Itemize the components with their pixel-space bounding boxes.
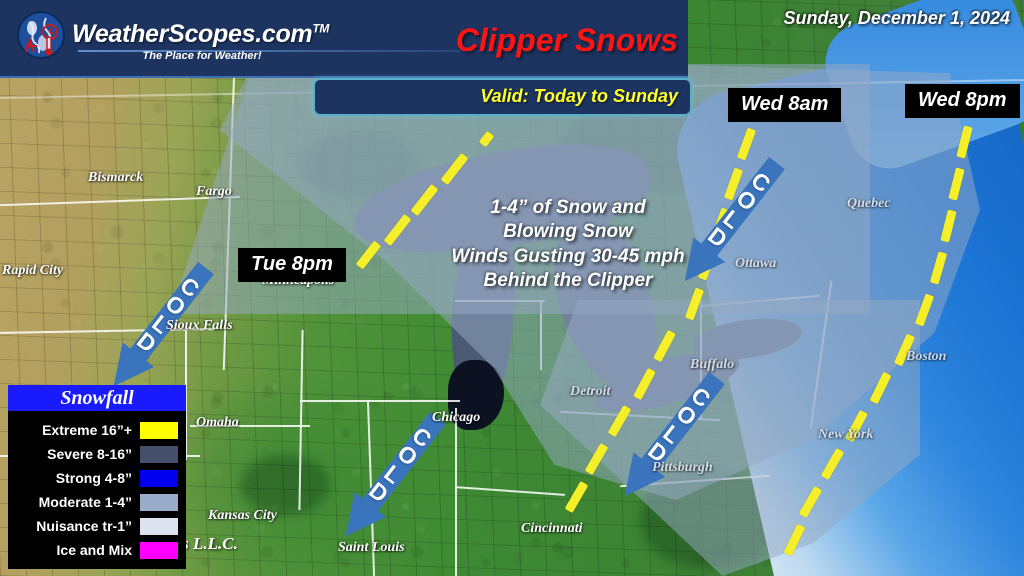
city-label: Bismarck [88, 170, 143, 186]
legend-label: Moderate 1-4” [39, 494, 132, 510]
legend-swatch [140, 446, 178, 463]
legend-swatch [140, 494, 178, 511]
state-boundary [540, 300, 542, 370]
forecast-callout: 1-4” of Snow and Blowing Snow Winds Gust… [418, 196, 718, 293]
state-boundary [455, 300, 545, 302]
legend-swatch [140, 518, 178, 535]
callout-line-4: Behind the Clipper [418, 269, 718, 293]
callout-line-2: Blowing Snow [418, 220, 718, 244]
brand-name: WeatherScopes.com [72, 20, 312, 48]
brand-title: WeatherScopes.comTM [72, 20, 329, 49]
date-stamp: Sunday, December 1, 2024 [784, 8, 1010, 29]
legend-label: Ice and Mix [57, 542, 132, 558]
city-label: Buffalo [690, 357, 734, 373]
city-label: Omaha [196, 415, 239, 431]
city-label: Pittsburgh [652, 460, 713, 476]
city-label: Boston [906, 349, 946, 365]
callout-line-3: Winds Gusting 30-45 mph [418, 245, 718, 269]
legend-title: Snowfall [8, 385, 186, 411]
legend-rows: Extreme 16”+Severe 8-16”Strong 4-8”Moder… [8, 411, 186, 562]
timestamp-label: Wed 8pm [905, 84, 1020, 118]
legend-label: Strong 4-8” [56, 470, 132, 486]
legend-swatch [140, 422, 178, 439]
legend-label: Nuisance tr-1” [36, 518, 132, 534]
legend-swatch [140, 470, 178, 487]
timestamp-label: Wed 8am [728, 88, 841, 122]
city-label: Ottawa [735, 256, 776, 272]
city-label: Saint Louis [338, 540, 405, 556]
state-boundary [300, 400, 460, 402]
brand-tagline: The Place for Weather! [92, 50, 312, 62]
city-label: Chicago [432, 410, 480, 426]
state-boundary [455, 408, 457, 576]
weather-map-graphic: COLDCOLDCOLDCOLD BismarckFargoRapid City… [0, 0, 1024, 576]
globe-weather-icon [16, 10, 66, 60]
city-label: Sioux Falls [166, 318, 233, 334]
legend-label: Extreme 16”+ [42, 422, 132, 438]
city-label: New York [818, 427, 873, 443]
legend-row: Ice and Mix [8, 538, 186, 562]
city-label: Detroit [570, 384, 610, 400]
city-label: Quebec [847, 196, 891, 212]
header-panel: WeatherScopes.comTM The Place for Weathe… [0, 0, 688, 78]
city-label: Fargo [196, 184, 232, 200]
legend-row: Moderate 1-4” [8, 490, 186, 514]
trademark-symbol: TM [312, 22, 329, 36]
legend-row: Extreme 16”+ [8, 418, 186, 442]
page-title: Clipper Snows [456, 22, 678, 59]
legend-label: Severe 8-16” [47, 446, 132, 462]
legend-row: Severe 8-16” [8, 442, 186, 466]
timestamp-label: Tue 8pm [238, 248, 346, 282]
city-label: Cincinnati [521, 521, 582, 537]
city-label: Kansas City [208, 508, 277, 524]
valid-period-panel: Valid: Today to Sunday [313, 78, 692, 116]
callout-line-1: 1-4” of Snow and [418, 196, 718, 220]
city-label: Rapid City [2, 263, 63, 279]
valid-period-text: Valid: Today to Sunday [480, 86, 678, 107]
legend-row: Strong 4-8” [8, 466, 186, 490]
legend-swatch [140, 542, 178, 559]
snowfall-legend: Snowfall Extreme 16”+Severe 8-16”Strong … [8, 385, 186, 569]
legend-row: Nuisance tr-1” [8, 514, 186, 538]
